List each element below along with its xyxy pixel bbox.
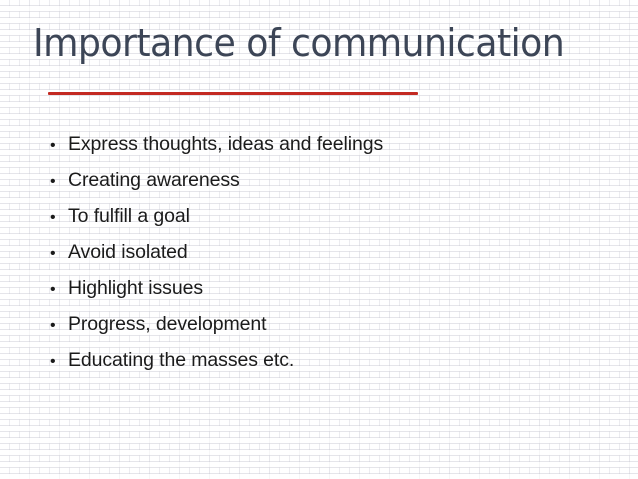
- slide-content: Importance of communication • Express th…: [0, 0, 638, 479]
- list-item-label: Creating awareness: [68, 162, 610, 198]
- slide-title: Importance of communication: [33, 18, 587, 68]
- bullet-point-icon: •: [50, 128, 68, 164]
- title-block: Importance of communication: [33, 18, 613, 68]
- bullet-point-icon: •: [50, 164, 68, 200]
- list-item: • Highlight issues: [50, 270, 610, 306]
- list-item-label: Progress, development: [68, 306, 610, 342]
- title-underline-rule: [48, 92, 418, 95]
- bullet-point-icon: •: [50, 344, 68, 380]
- list-item-label: Educating the masses etc.: [68, 342, 610, 378]
- bullet-point-icon: •: [50, 236, 68, 272]
- list-item-label: Avoid isolated: [68, 234, 610, 270]
- bullet-point-icon: •: [50, 272, 68, 308]
- bullet-list: • Express thoughts, ideas and feelings •…: [50, 126, 610, 378]
- bullet-point-icon: •: [50, 308, 68, 344]
- list-item: • Educating the masses etc.: [50, 342, 610, 378]
- presentation-slide: Importance of communication • Express th…: [0, 0, 638, 479]
- list-item-label: To fulfill a goal: [68, 198, 610, 234]
- list-item: • Express thoughts, ideas and feelings: [50, 126, 610, 162]
- list-item-label: Express thoughts, ideas and feelings: [68, 126, 610, 162]
- list-item: • Creating awareness: [50, 162, 610, 198]
- list-item-label: Highlight issues: [68, 270, 610, 306]
- bullet-point-icon: •: [50, 200, 68, 236]
- list-item: • Progress, development: [50, 306, 610, 342]
- list-item: • Avoid isolated: [50, 234, 610, 270]
- list-item: • To fulfill a goal: [50, 198, 610, 234]
